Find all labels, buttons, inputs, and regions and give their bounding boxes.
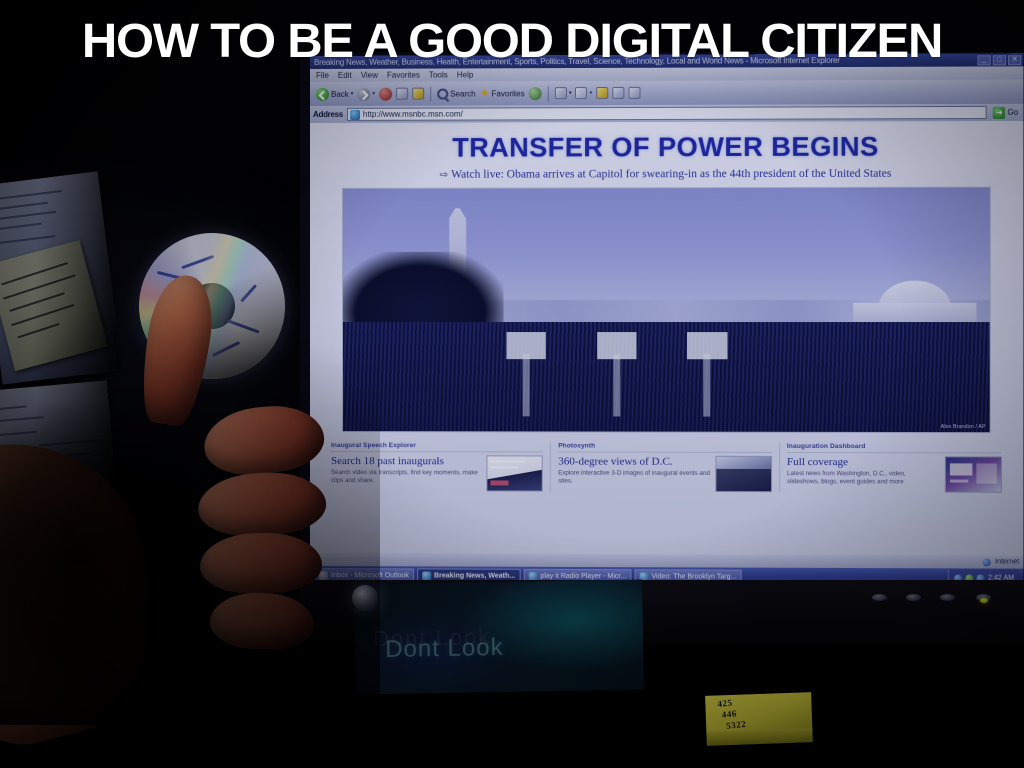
address-input[interactable]: http://www.msnbc.msn.com/ [347, 106, 987, 121]
card-title[interactable]: 360-degree views of D.C. [558, 456, 710, 468]
edit-word-button[interactable]: ▾ [575, 87, 592, 99]
forearm [0, 415, 183, 767]
slide-title: HOW TO BE A GOOD DIGITAL CITIZEN [0, 14, 1024, 69]
go-label: Go [1007, 108, 1018, 117]
sticky-pad-line-2: 446 [721, 708, 737, 720]
mail-dropdown-icon[interactable]: ▾ [569, 90, 572, 96]
research-icon [628, 87, 640, 99]
sticky-note-pad: 425 446 5322 [705, 692, 813, 748]
mail-button[interactable]: ▾ [555, 87, 572, 99]
card-title[interactable]: Full coverage [787, 456, 940, 469]
favorites-button[interactable]: ★ Favorites [480, 88, 525, 99]
mail-icon [555, 87, 567, 99]
card-thumbnail[interactable] [715, 456, 772, 492]
back-button[interactable]: Back ▾ [316, 87, 353, 100]
search-button[interactable]: Search [437, 88, 476, 99]
internet-zone-icon [983, 558, 991, 566]
discuss-button[interactable] [612, 87, 624, 99]
inauguration-panorama-photo[interactable]: Alex Brandon / AP [342, 187, 991, 433]
webpage-content: TRANSFER OF POWER BEGINS ⇨Watch live: Ob… [310, 121, 1023, 556]
photo-credit: Alex Brandon / AP [941, 424, 986, 430]
search-label: Search [450, 89, 475, 98]
go-button[interactable]: ➜ Go [991, 106, 1020, 118]
subheadline-text: Watch live: Obama arrives at Capitol for… [451, 168, 891, 181]
history-button[interactable] [529, 87, 542, 100]
card-description: Explore interactive 3-D images of inaugu… [558, 470, 710, 487]
status-zone-label: Internet [995, 558, 1019, 565]
taskbar-item-label: Breaking News, Weath... [434, 572, 515, 579]
photo-scene: Breaking News, Weather, Business, Health… [0, 0, 1024, 768]
sticky-pad-edge [706, 728, 812, 746]
sticky-pad-top-sheet: 425 446 5322 [705, 692, 812, 734]
messenger-icon [596, 87, 608, 99]
page-icon [350, 109, 360, 119]
back-arrow-icon [316, 87, 329, 100]
finger-pinky [209, 591, 315, 651]
browser-addressbar[interactable]: Address http://www.msnbc.msn.com/ ➜ Go [310, 104, 1023, 123]
stop-icon [379, 87, 392, 100]
search-icon [437, 88, 448, 99]
page-headline: TRANSFER OF POWER BEGINS [320, 131, 1013, 164]
sticky-pad-line-1: 425 [717, 697, 733, 709]
forward-button[interactable]: ▾ [357, 87, 375, 100]
jumbotron-screen-2 [613, 354, 620, 417]
address-label: Address [313, 110, 343, 119]
monitor-power-button[interactable] [976, 594, 991, 601]
jumbotron-screen-3 [704, 354, 711, 417]
history-icon [529, 87, 542, 100]
address-value: http://www.msnbc.msn.com/ [363, 110, 463, 119]
finger-ring [199, 532, 322, 594]
crt-monitor: Breaking News, Weather, Business, Health… [300, 52, 1024, 580]
video-arrow-icon: ⇨ [440, 170, 448, 181]
research-button[interactable] [628, 87, 640, 99]
back-label: Back [331, 89, 349, 98]
story-card-dashboard[interactable]: Inauguration Dashboard Full coverage Lat… [779, 443, 1009, 493]
forward-dropdown-icon[interactable]: ▾ [372, 91, 375, 97]
messenger-button[interactable] [596, 87, 608, 99]
monitor-minus-button[interactable] [906, 594, 921, 601]
hand-holding-disc [0, 255, 380, 725]
sticky-pad-line-3: 5322 [726, 719, 747, 731]
refresh-icon [396, 88, 408, 100]
dont-look-text: Dont Look [385, 634, 504, 664]
toolbar-divider-2 [548, 86, 549, 101]
thumb [135, 271, 220, 429]
menu-item-help[interactable]: Help [457, 70, 474, 79]
stop-button[interactable] [379, 87, 392, 100]
finger-middle [196, 470, 327, 539]
story-card-photosynth[interactable]: Photosynth 360-degree views of D.C. Expl… [550, 442, 779, 492]
menu-item-tools[interactable]: Tools [429, 70, 448, 79]
monitor-menu-button[interactable] [872, 594, 887, 601]
card-thumbnail[interactable] [945, 456, 1002, 492]
browser-toolbar[interactable]: Back ▾ ▾ Search [310, 79, 1023, 106]
toolbar-divider [430, 86, 431, 101]
page-subheadline[interactable]: ⇨Watch live: Obama arrives at Capitol fo… [320, 167, 1013, 181]
crowd-on-mall [343, 322, 990, 432]
card-description: Latest news from Washington, D.C., video… [787, 470, 940, 487]
fingers [196, 407, 336, 697]
finger-index [201, 401, 327, 479]
menu-item-edit[interactable]: Edit [338, 71, 352, 80]
star-icon: ★ [480, 88, 490, 99]
jumbotron-screen-1 [523, 354, 530, 417]
card-thumbnail[interactable] [487, 455, 543, 491]
monitor-screen: Breaking News, Weather, Business, Health… [310, 53, 1023, 583]
monitor-plus-button[interactable] [940, 594, 955, 601]
forward-arrow-icon [357, 87, 370, 100]
menu-item-file[interactable]: File [316, 71, 329, 80]
favorites-label: Favorites [492, 89, 525, 98]
refresh-button[interactable] [396, 88, 408, 100]
discuss-icon [612, 87, 624, 99]
under-monitor-image: Dont Look Dont Look [354, 579, 644, 694]
story-cards-row: Inaugural Speech Explorer Search 18 past… [320, 442, 1013, 493]
back-dropdown-icon[interactable]: ▾ [351, 91, 354, 97]
card-kicker: Inauguration Dashboard [787, 443, 1002, 454]
edit-dropdown-icon[interactable]: ▾ [590, 90, 593, 96]
menu-item-view[interactable]: View [361, 71, 378, 80]
go-arrow-icon: ➜ [993, 106, 1005, 118]
home-button[interactable] [412, 88, 424, 100]
home-icon [412, 88, 424, 100]
menu-item-favorites[interactable]: Favorites [387, 71, 420, 80]
card-kicker: Photosynth [558, 442, 772, 452]
word-edit-icon [575, 87, 587, 99]
